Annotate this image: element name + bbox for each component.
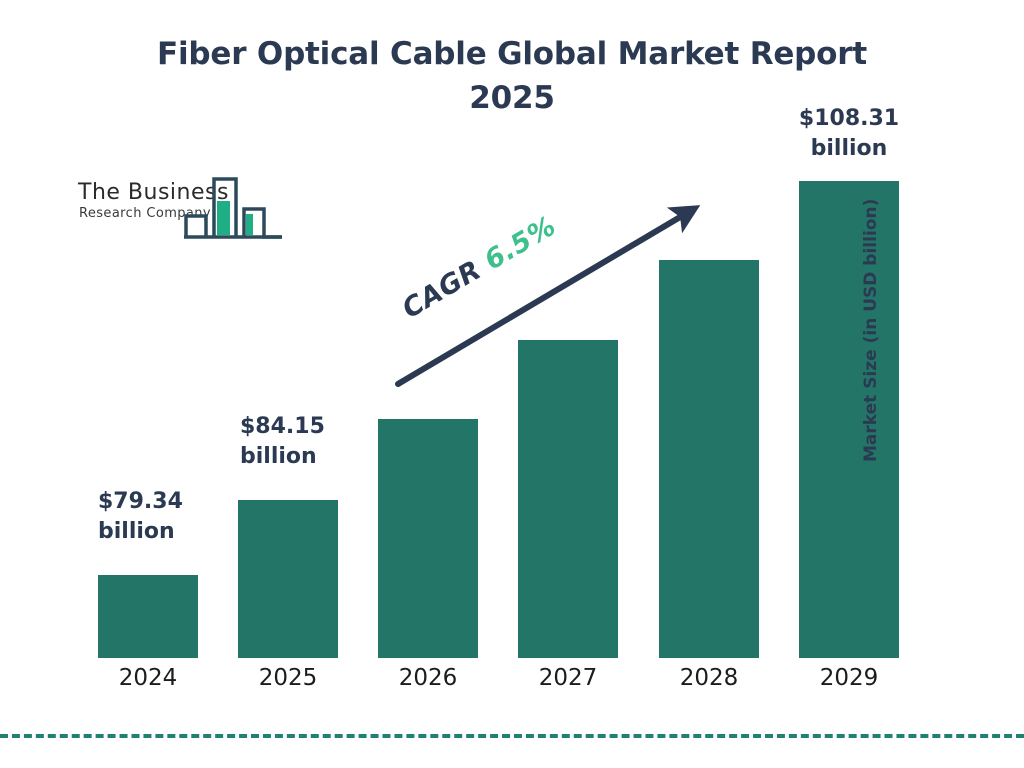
bar-2024[interactable] xyxy=(98,575,198,658)
bar-value-label-2029: $108.31 billion xyxy=(769,104,929,164)
chart-container: Fiber Optical Cable Global Market Report… xyxy=(0,0,1024,768)
cagr-label-value: 6.5% xyxy=(479,211,561,277)
bar-value-amount-2029: $108.31 xyxy=(769,104,929,134)
bar-2029[interactable] xyxy=(799,181,899,658)
bar-2028[interactable] xyxy=(659,260,759,658)
bar-2026[interactable] xyxy=(378,419,478,658)
bar-value-unit-2024: billion xyxy=(98,517,218,547)
bar-value-label-2024: $79.34 billion xyxy=(98,487,218,547)
plot-area: $79.34 billion $84.15 billion $108.31 bi… xyxy=(0,0,1024,768)
bar-value-unit-2029: billion xyxy=(769,134,929,164)
bar-2027[interactable] xyxy=(518,340,618,658)
bar-2025[interactable] xyxy=(238,500,338,658)
cagr-label-prefix: CAGR xyxy=(397,255,487,325)
cagr-label: CAGR 6.5% xyxy=(397,211,561,325)
x-tick-label-2027: 2027 xyxy=(518,665,618,691)
bar-value-amount-2025: $84.15 xyxy=(240,412,360,442)
x-tick-label-2025: 2025 xyxy=(238,665,338,691)
x-tick-label-2029: 2029 xyxy=(799,665,899,691)
bar-value-label-2025: $84.15 billion xyxy=(240,412,360,472)
x-tick-label-2026: 2026 xyxy=(378,665,478,691)
x-tick-label-2028: 2028 xyxy=(659,665,759,691)
footer-divider xyxy=(0,734,1024,738)
y-axis-title: Market Size (in USD billion) xyxy=(861,122,881,462)
x-tick-label-2024: 2024 xyxy=(98,665,198,691)
bar-value-amount-2024: $79.34 xyxy=(98,487,218,517)
bar-value-unit-2025: billion xyxy=(240,442,360,472)
